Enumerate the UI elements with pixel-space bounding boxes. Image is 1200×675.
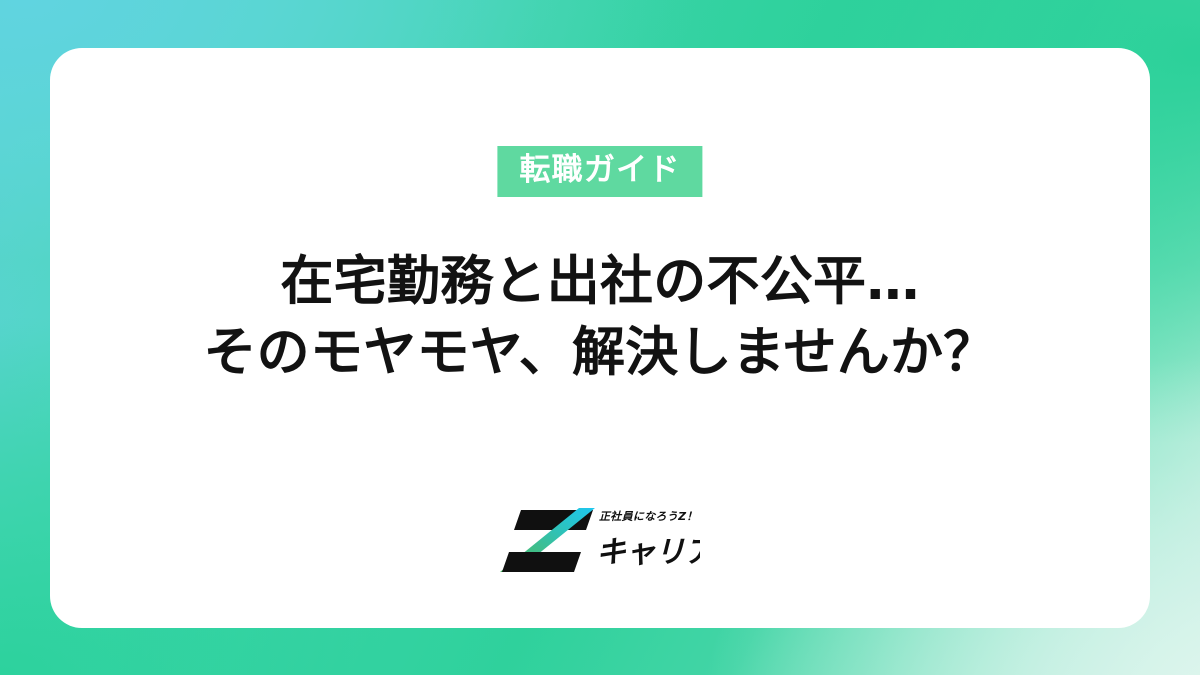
logo-wordmark: キャリア — [596, 535, 700, 570]
slide-canvas: 転職ガイド 在宅勤務と出社の不公平… そのモヤモヤ、解決しませんか？ — [0, 0, 1200, 675]
brand-logo: 正社員になろうZ！ キャリア — [500, 496, 700, 578]
headline-line-1: 在宅勤務と出社の不公平… — [50, 246, 1150, 317]
brand-logo-svg: 正社員になろうZ！ キャリア — [500, 496, 700, 578]
logo-z-mark — [500, 508, 595, 572]
category-badge-label: 転職ガイド — [519, 155, 680, 186]
logo-tagline: 正社員になろうZ！ — [599, 510, 698, 523]
category-badge: 転職ガイド — [497, 146, 702, 197]
content-card: 転職ガイド 在宅勤務と出社の不公平… そのモヤモヤ、解決しませんか？ — [50, 48, 1150, 628]
headline-line-2: そのモヤモヤ、解決しませんか？ — [50, 317, 1150, 388]
page-title: 在宅勤務と出社の不公平… そのモヤモヤ、解決しませんか？ — [50, 246, 1150, 388]
